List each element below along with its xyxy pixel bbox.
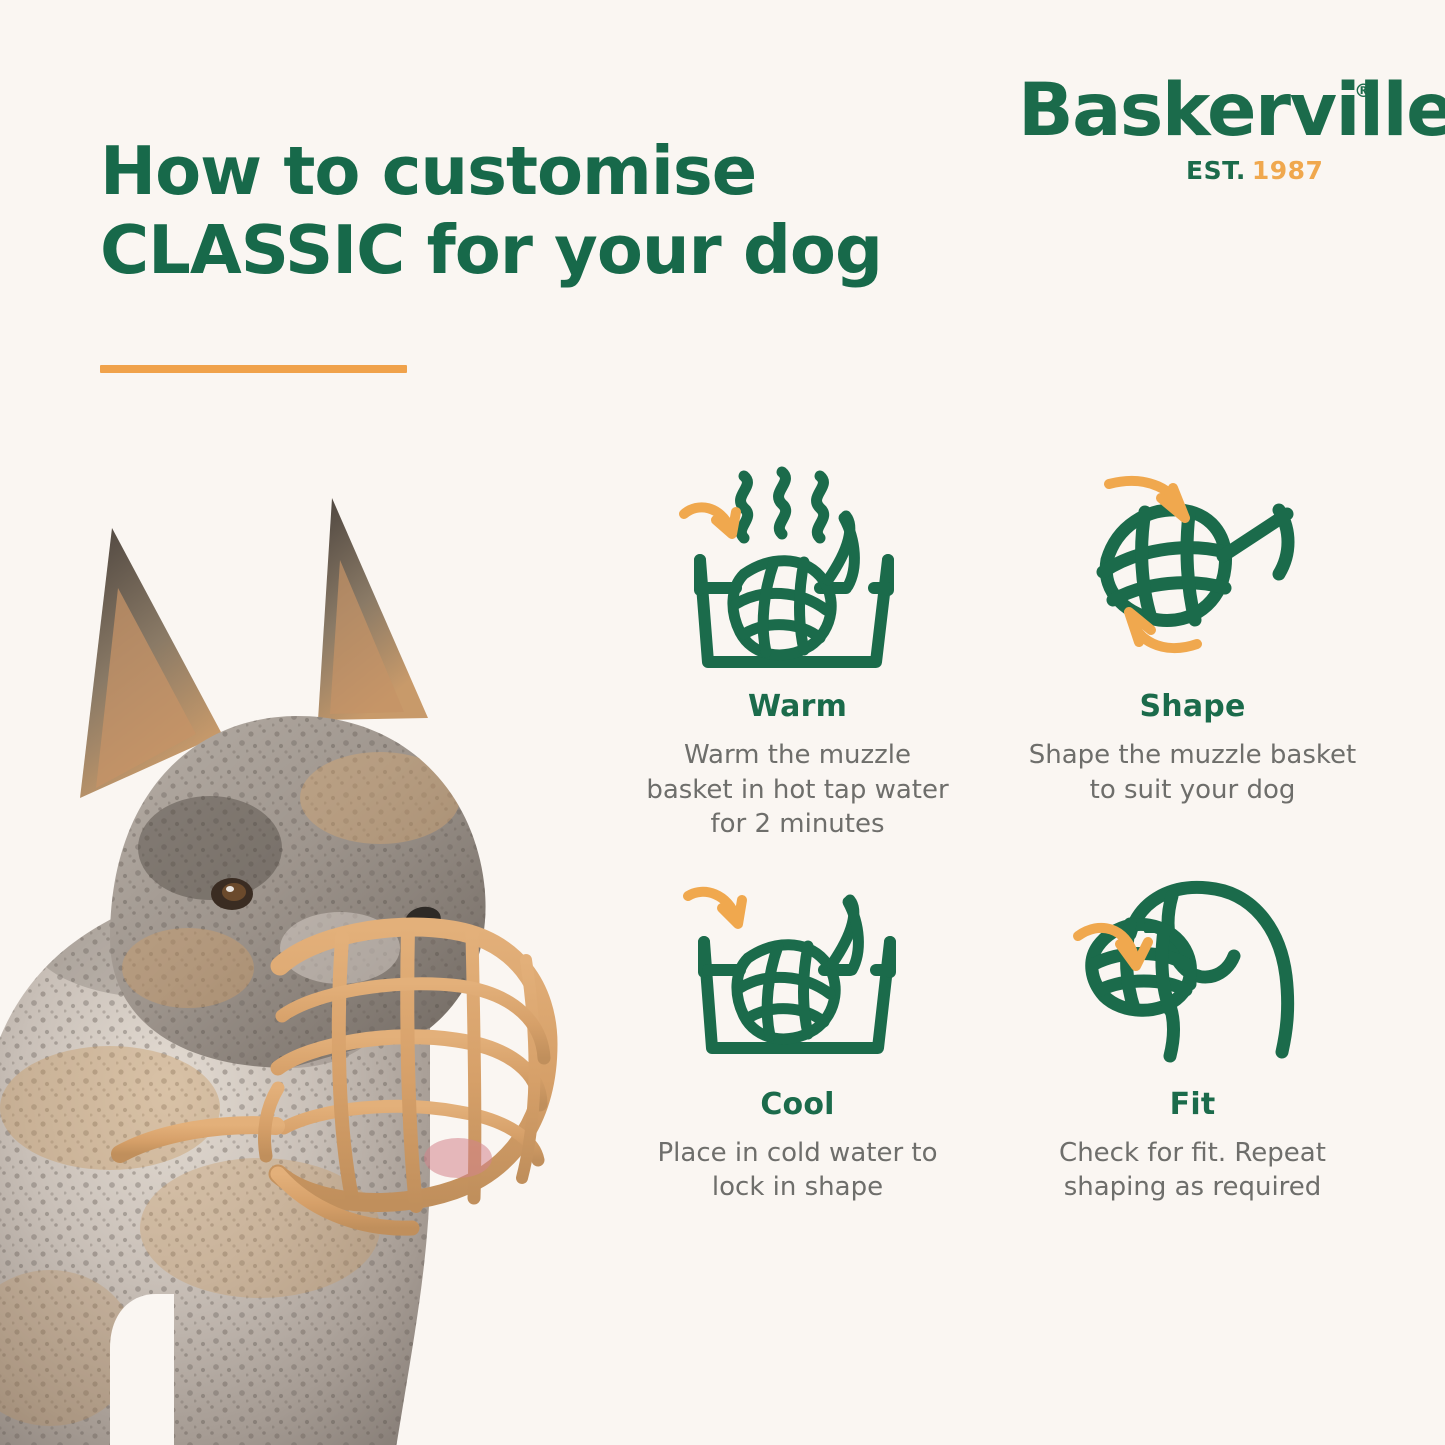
dog-head-with-muzzle-icon <box>1068 868 1318 1083</box>
step-fit: Fit Check for fit. Repeat shaping as req… <box>1010 868 1375 1271</box>
muzzle-in-cold-water-basin-icon <box>678 868 918 1083</box>
registered-trademark-icon: ® <box>1354 80 1373 102</box>
dog-with-muzzle-photo <box>0 468 620 1445</box>
title-underline-rule <box>100 365 407 373</box>
muzzle-shaping-arrows-icon <box>1073 455 1313 685</box>
infographic-page: Baskerville ® EST.1987 How to customise … <box>0 0 1445 1445</box>
step-cool: Cool Place in cold water to lock in shap… <box>615 868 980 1271</box>
step-description: Shape the muzzle basket to suit your dog <box>1028 738 1358 807</box>
step-shape: Shape Shape the muzzle basket to suit yo… <box>1010 455 1375 858</box>
step-title: Fit <box>1170 1087 1216 1122</box>
step-title: Shape <box>1139 689 1245 724</box>
steps-grid: Warm Warm the muzzle basket in hot tap w… <box>615 455 1375 1270</box>
step-title: Cool <box>760 1087 834 1122</box>
step-description: Place in cold water to lock in shape <box>633 1136 963 1205</box>
brand-wordmark: Baskerville <box>1018 74 1445 147</box>
brand-est-year: 1987 <box>1252 156 1324 185</box>
brand-logo: Baskerville ® EST.1987 <box>1010 68 1390 188</box>
step-title: Warm <box>748 689 847 724</box>
step-description: Warm the muzzle basket in hot tap water … <box>638 738 958 842</box>
step-warm: Warm Warm the muzzle basket in hot tap w… <box>615 455 980 858</box>
muzzle-in-hot-water-basin-icon <box>678 455 918 685</box>
brand-est-label: EST. <box>1186 156 1246 185</box>
step-description: Check for fit. Repeat shaping as require… <box>1028 1136 1358 1205</box>
brand-established-line: EST.1987 <box>1186 156 1323 185</box>
page-title: How to customise CLASSIC for your dog <box>100 132 890 290</box>
page-title-line-1: How to customise <box>100 132 756 210</box>
page-title-line-2: CLASSIC for your dog <box>100 211 890 290</box>
